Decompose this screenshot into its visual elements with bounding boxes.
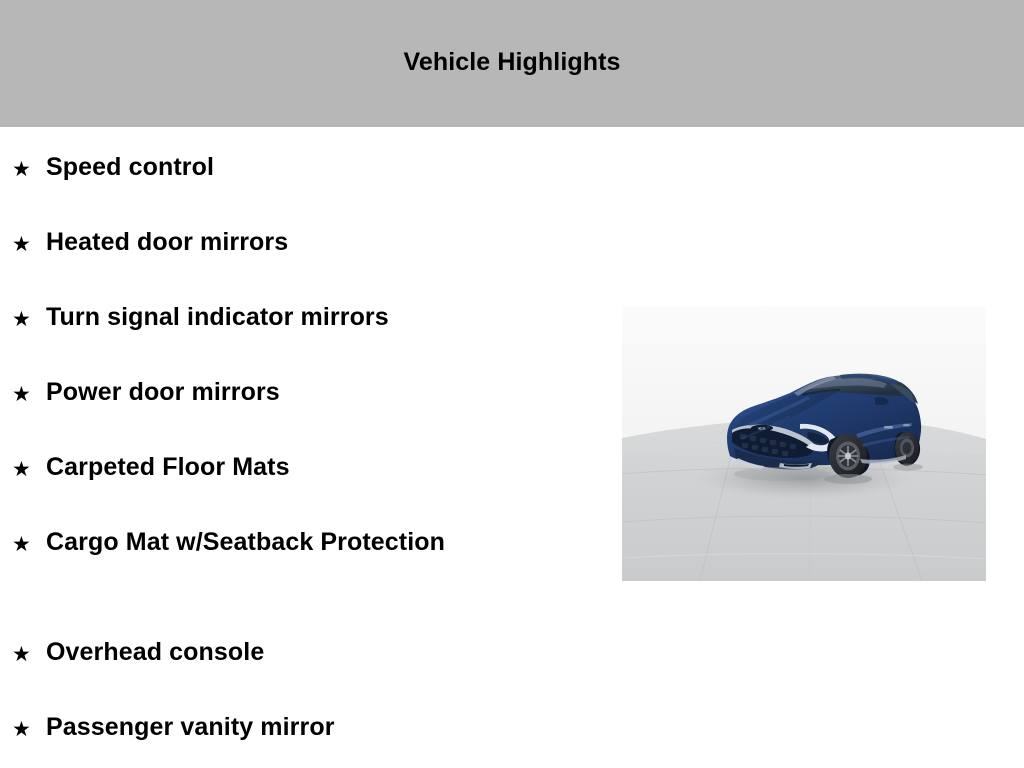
list-item: ★ Heated door mirrors: [0, 202, 600, 277]
highlight-label: Heated door mirrors: [32, 202, 466, 259]
list-item: ★ Carpeted Floor Mats: [0, 427, 600, 502]
star-bullet-icon: ★: [12, 202, 32, 255]
vehicle-photo-frame: KIA: [622, 306, 986, 581]
star-bullet-icon: ★: [12, 127, 32, 180]
highlight-label: Passenger vanity mirror: [32, 687, 466, 744]
vehicle-highlights-page: Vehicle Highlights ★ Speed control ★ Hea…: [0, 0, 1024, 768]
list-item: ★ Speed control: [0, 127, 600, 202]
list-item: ★ Cargo Mat w/Seatback Protection: [0, 502, 600, 612]
highlight-label: Power door mirrors: [32, 352, 466, 409]
list-item: ★ Overhead console: [0, 612, 600, 687]
header-bar: Vehicle Highlights: [0, 0, 1024, 127]
star-bullet-icon: ★: [12, 612, 32, 665]
list-item: ★ Turn signal indicator mirrors: [0, 277, 600, 352]
highlight-label: Cargo Mat w/Seatback Protection: [32, 502, 466, 559]
highlight-label: Overhead console: [32, 612, 466, 669]
vehicle-photo: KIA: [622, 306, 986, 581]
page-title: Vehicle Highlights: [403, 50, 620, 77]
vehicle-highlights-list: ★ Speed control ★ Heated door mirrors ★ …: [0, 127, 600, 762]
star-bullet-icon: ★: [12, 352, 32, 405]
star-bullet-icon: ★: [12, 502, 32, 555]
highlight-label: Speed control: [32, 127, 466, 184]
list-item: ★ Power door mirrors: [0, 352, 600, 427]
vehicle-photo-image: KIA: [622, 306, 986, 581]
star-bullet-icon: ★: [12, 277, 32, 330]
list-item: ★ Passenger vanity mirror: [0, 687, 600, 762]
highlight-label: Turn signal indicator mirrors: [32, 277, 466, 334]
star-bullet-icon: ★: [12, 427, 32, 480]
star-bullet-icon: ★: [12, 687, 32, 740]
highlight-label: Carpeted Floor Mats: [32, 427, 466, 484]
